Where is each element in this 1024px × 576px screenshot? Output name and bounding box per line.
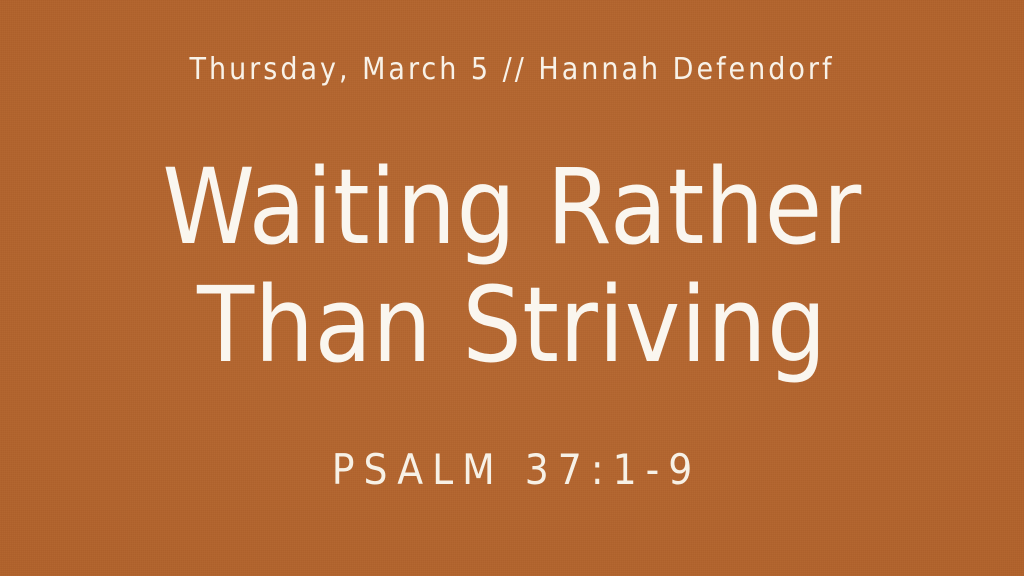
slide-title-line-2: Than Striving	[0, 266, 1024, 384]
scripture-reference: PSALM 37:1-9	[0, 448, 1024, 492]
slide-meta-line: Thursday, March 5 // Hannah Defendorf	[0, 54, 1024, 86]
slide-title-line-1: Waiting Rather	[0, 148, 1024, 266]
sermon-title-slide: Thursday, March 5 // Hannah Defendorf Wa…	[0, 0, 1024, 576]
slide-title-block: Waiting Rather Than Striving	[0, 148, 1024, 384]
